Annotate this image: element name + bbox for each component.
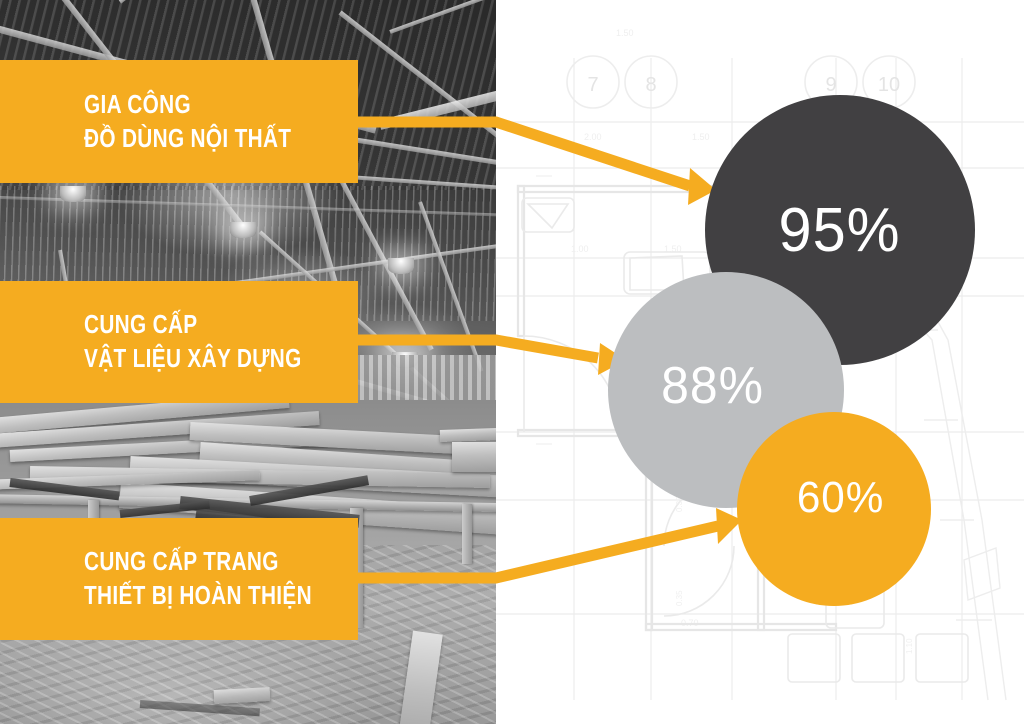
percent-value-60: 60% [797, 473, 884, 523]
svg-text:7: 7 [587, 74, 598, 96]
service-label-line-1: GIA CÔNG [84, 88, 303, 122]
infographic-canvas: 7 8 9 10 2.00 1.50 1.00 1.50 0.70 1.50 [0, 0, 1024, 724]
svg-text:9: 9 [825, 74, 836, 96]
service-label-vat-lieu-xay-dung[interactable]: CUNG CẤP VẬT LIỆU XÂY DỰNG [0, 281, 358, 403]
svg-text:1.50: 1.50 [692, 132, 710, 142]
percent-value-95: 95% [779, 195, 901, 266]
warehouse-lamp [60, 186, 86, 202]
service-label-line-1: CUNG CẤP TRANG [84, 545, 303, 579]
svg-text:2.00: 2.00 [584, 132, 602, 142]
percent-value-88: 88% [662, 356, 765, 416]
service-label-line-1: CUNG CẤP [84, 308, 303, 342]
svg-text:0.35: 0.35 [675, 590, 684, 606]
service-label-line-2: VẬT LIỆU XÂY DỰNG [84, 342, 303, 376]
percent-circle-60[interactable]: 60% [737, 412, 931, 606]
warehouse-lamp [230, 222, 256, 238]
service-label-thiet-bi-hoan-thien[interactable]: CUNG CẤP TRANG THIẾT BỊ HOÀN THIỆN [0, 518, 358, 640]
service-label-line-2: THIẾT BỊ HOÀN THIỆN [84, 579, 303, 613]
svg-text:1.00: 1.00 [571, 244, 589, 254]
svg-text:10: 10 [878, 74, 900, 96]
service-label-line-2: ĐỒ DÙNG NỘI THẤT [84, 122, 303, 156]
svg-text:1.10: 1.10 [905, 638, 914, 654]
svg-text:8: 8 [645, 74, 656, 96]
warehouse-lamp [388, 258, 414, 274]
svg-text:1.50: 1.50 [616, 28, 634, 38]
service-label-gia-cong-noi-that[interactable]: GIA CÔNG ĐỒ DÙNG NỘI THẤT [0, 60, 358, 183]
